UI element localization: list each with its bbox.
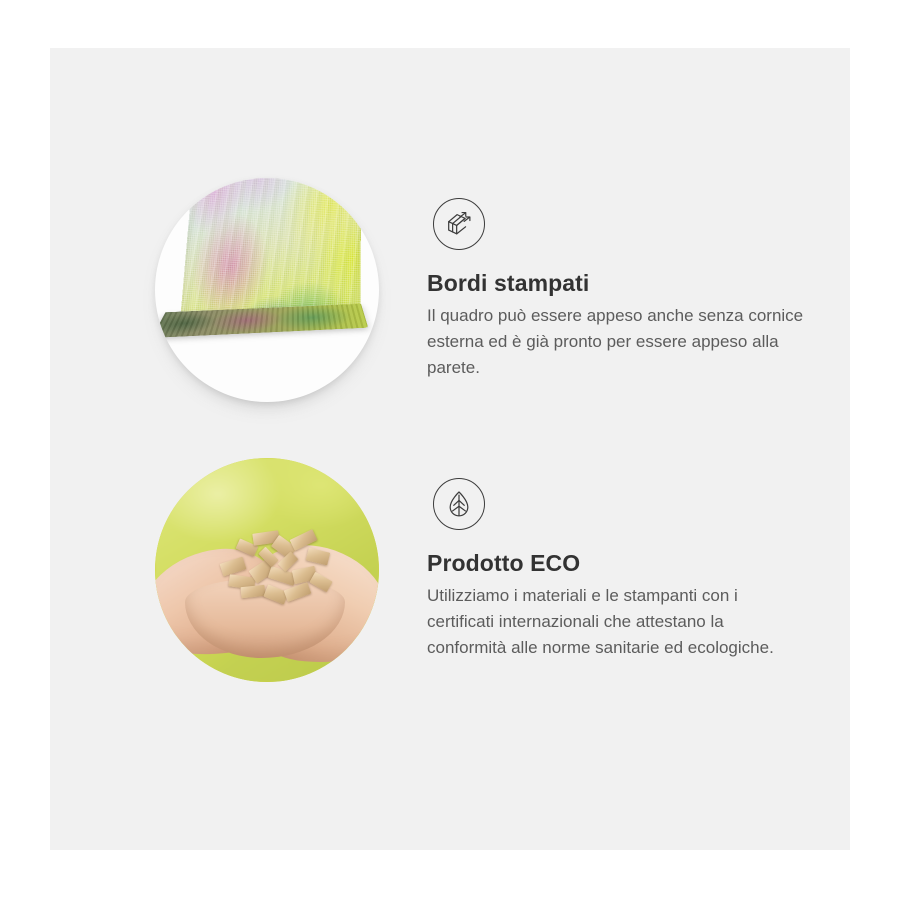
leaf-glyph	[444, 489, 474, 519]
canvas-edge-arrows-glyph	[444, 209, 474, 239]
canvas-corner-photo	[155, 178, 379, 402]
feature-eco-product: Prodotto ECO Utilizziamo i materiali e l…	[50, 458, 850, 738]
feature-description: Il quadro può essere appeso anche senza …	[427, 303, 807, 381]
hands-wood-chips-photo	[155, 458, 379, 682]
printed-edges-text: Bordi stampati Il quadro può essere appe…	[427, 270, 807, 381]
product-feature-page: Bordi stampati Il quadro può essere appe…	[0, 0, 900, 900]
feature-title: Prodotto ECO	[427, 550, 807, 577]
canvas-artwork	[155, 178, 379, 402]
feature-description: Utilizziamo i materiali e le stampanti c…	[427, 583, 807, 661]
canvas-edge-arrows-icon	[433, 198, 485, 250]
feature-title: Bordi stampati	[427, 270, 807, 297]
eco-product-text: Prodotto ECO Utilizziamo i materiali e l…	[427, 550, 807, 661]
wood-chips-pile	[215, 530, 335, 608]
leaf-icon	[433, 478, 485, 530]
content-panel: Bordi stampati Il quadro può essere appe…	[50, 48, 850, 850]
feature-printed-edges: Bordi stampati Il quadro può essere appe…	[50, 178, 850, 458]
